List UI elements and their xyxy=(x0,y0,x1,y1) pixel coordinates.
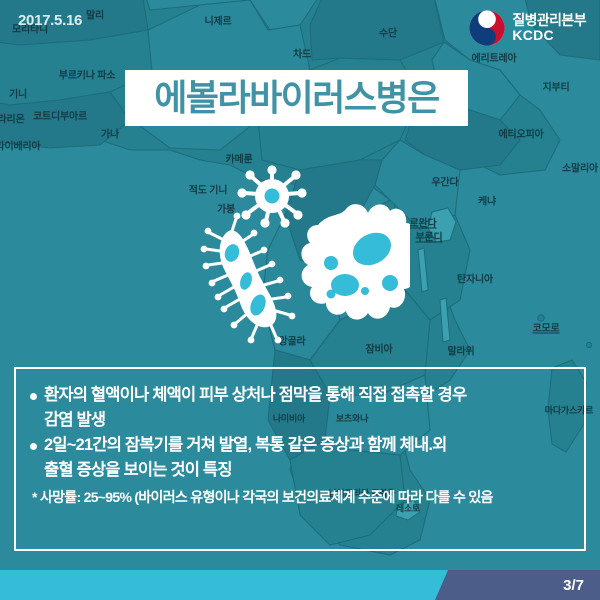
title-banner: 에볼라바이러스병은 xyxy=(125,70,468,126)
bullet-text-2: 2일~21간의 잠복기를 거쳐 발열, 복통 같은 증상과 함께 체내.외 xyxy=(44,433,447,457)
map-label: 코모로 xyxy=(533,320,560,335)
footnote-fatality-rate: * 사망률: 25~95% (바이러스 유형이나 각국의 보건의료체계 수준에 … xyxy=(30,487,572,507)
filovirus-icon xyxy=(201,213,296,344)
map-label: 소말리아 xyxy=(562,160,598,175)
page-title: 에볼라바이러스병은 xyxy=(154,80,439,116)
logo-org-en: KCDC xyxy=(512,28,586,43)
map-label: 차드 xyxy=(293,46,311,61)
map-label: 기니 xyxy=(9,86,27,101)
bullet-item: 2일~21간의 잠복기를 거쳐 발열, 복통 같은 증상과 함께 체내.외 xyxy=(30,433,572,457)
bullet-text-2-cont: 출혈 증상을 보이는 것이 특징 xyxy=(30,458,572,482)
map-label: 에리트레아 xyxy=(472,50,517,65)
map-label: 코트디부아르 xyxy=(33,108,87,123)
taeguk-icon xyxy=(469,10,505,46)
map-label: 시에라리온 xyxy=(0,111,25,126)
publish-date: 2017.5.16 xyxy=(18,12,82,29)
logo-org-ko: 질병관리본부 xyxy=(512,13,586,28)
map-label: 라이베리아 xyxy=(0,138,41,153)
virus-particle-icon xyxy=(237,165,306,227)
map-label: 가나 xyxy=(101,126,119,141)
map-label: 에티오피아 xyxy=(499,126,544,141)
map-label: 말라위 xyxy=(448,343,475,358)
bullet-dot-icon xyxy=(30,443,37,450)
map-label: 수단 xyxy=(379,25,397,40)
map-label: 부르키나 파소 xyxy=(59,67,116,82)
bullet-item: 환자의 혈액이나 체액이 피부 상처나 점막을 통해 직접 접촉할 경우 xyxy=(30,383,572,407)
map-label: 니제르 xyxy=(205,13,232,28)
map-label: 르완다 xyxy=(410,215,437,230)
info-panel: 환자의 혈액이나 체액이 피부 상처나 점막을 통해 직접 접촉할 경우 감염 … xyxy=(14,367,586,551)
map-label: 우간다 xyxy=(432,174,459,189)
kcdc-logo: 질병관리본부 KCDC xyxy=(469,10,586,46)
bullet-text-1-cont: 감염 발생 xyxy=(30,408,572,432)
map-label: 지부티 xyxy=(543,79,570,94)
virus-blob-icon xyxy=(301,204,410,320)
infographic-card: 말리 모리타니 니제르 수단 차드 에리트레아 부르키나 파소 지부티 기니 시… xyxy=(0,0,600,600)
footer-bar: 3/7 xyxy=(0,570,600,600)
bullet-dot-icon xyxy=(30,393,37,400)
map-label: 말리 xyxy=(86,7,104,22)
virus-illustration xyxy=(200,165,410,355)
page-indicator: 3/7 xyxy=(563,570,584,600)
bullet-text-1: 환자의 혈액이나 체액이 피부 상처나 점막을 통해 직접 접촉할 경우 xyxy=(44,383,466,407)
map-label: 탄자니아 xyxy=(457,271,493,286)
map-label: 케냐 xyxy=(478,193,496,208)
map-label: 카메룬 xyxy=(226,151,253,166)
map-label: 부룬디 xyxy=(416,229,443,244)
